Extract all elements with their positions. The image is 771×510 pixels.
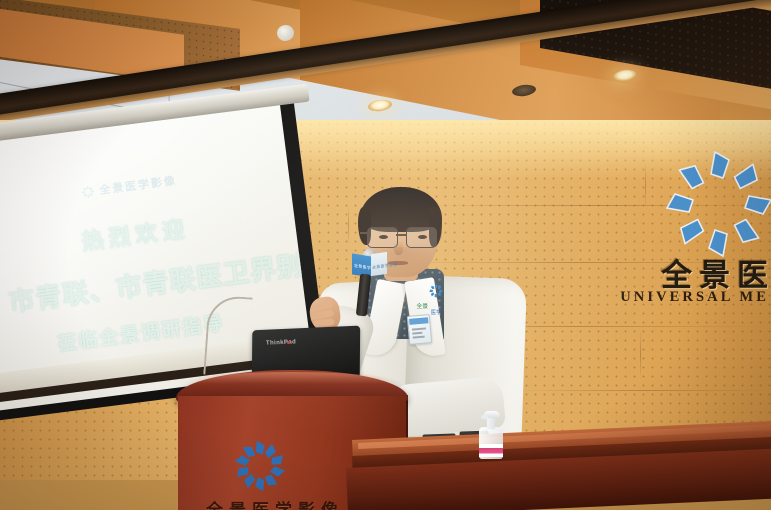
slide-headline: 热烈欢迎 [80, 211, 191, 256]
badge-line [413, 336, 425, 339]
badge-line [412, 332, 422, 334]
badge-header-strip [409, 317, 428, 325]
slide-brand-text: 全景医学影像 [98, 172, 177, 198]
company-logo-icon [81, 184, 96, 199]
glasses-temple [360, 232, 368, 234]
glasses-bridge [396, 234, 406, 236]
slide-brand: 全景医学影像 [80, 172, 177, 200]
badge-line [412, 327, 426, 330]
wall-seam [645, 163, 646, 208]
wall-sign-english: UNIVERSAL ME [620, 289, 769, 306]
sanitizer-label [479, 444, 503, 457]
screenshot-root: 全景医 UNIVERSAL ME 全景医学影像 [0, 0, 771, 510]
starburst-logo-icon [232, 438, 288, 494]
podium-brand-text: 全景医学影像 [206, 496, 344, 510]
svg-text:医学: 医学 [431, 308, 441, 316]
svg-text:全景: 全景 [416, 302, 428, 310]
wall-seam [640, 330, 641, 378]
sanitizer-spout [481, 415, 488, 419]
lens-right [406, 227, 437, 248]
laptop-indicator-light [287, 341, 290, 344]
wall-seam [520, 390, 771, 391]
nose [394, 241, 403, 255]
starburst-logo-icon [659, 146, 771, 261]
microphone-flag-side: 全景医学影像 [371, 252, 387, 276]
sanitizer-neck [487, 418, 495, 429]
id-badge [407, 314, 432, 345]
company-logo-icon [428, 283, 444, 299]
